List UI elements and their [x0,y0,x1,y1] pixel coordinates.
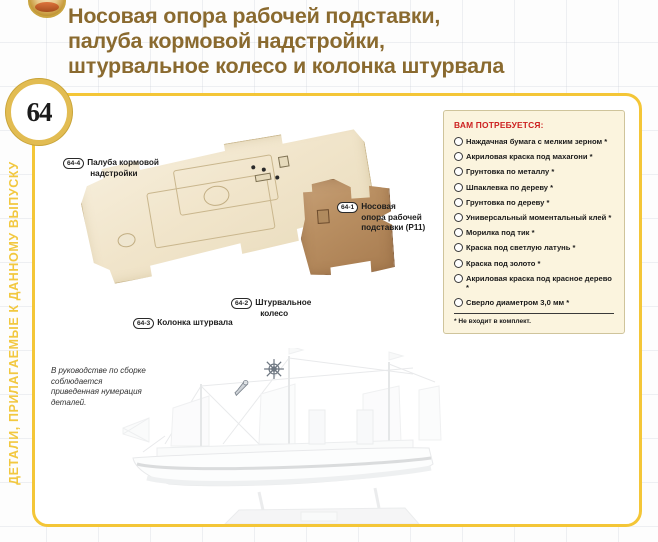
part-label-64-3: 64-3Колонка штурвала [133,318,233,330]
page-root: Носовая опора рабочей подставки, палуба … [0,0,658,542]
page-title-line-1: Носовая опора рабочей подставки, [68,4,648,29]
sidebar-vertical-tab: ДЕТАЛИ, ПРИЛАГАЕМЫЕ К ДАННОМУ ВЫПУСКУ [4,120,24,532]
material-item[interactable]: Универсальный моментальный клей * [454,213,614,222]
part-label-64-1: 64-1Носоваяопора рабочейподставки (Р11) [337,202,425,234]
part-name-64-2-line1: Штурвальное [255,298,311,307]
materials-heading: ВАМ ПОТРЕБУЕТСЯ: [454,120,614,130]
part-name-64-4-line1: Палуба кормовой [87,158,159,167]
ship-model-watermark [113,348,443,526]
sidebar-label: ДЕТАЛИ, ПРИЛАГАЕМЫЕ К ДАННОМУ ВЫПУСКУ [7,117,21,529]
part-label-64-4: 64-4Палуба кормовойнадстройки [63,158,159,179]
material-item[interactable]: Акриловая краска под махагони * [454,152,614,161]
content-panel: 64-4Палуба кормовойнадстройки 64-1Носова… [32,93,642,527]
materials-panel: ВАМ ПОТРЕБУЕТСЯ: Наждачная бумага с мелк… [443,110,625,334]
material-item[interactable]: Краска под светлую латунь * [454,243,614,252]
part-name-64-1-line2: опора рабочей [361,213,422,222]
issue-number-badge: 64 [6,79,72,145]
part-number-64-1: 64-1 [337,202,358,213]
issue-number: 64 [27,97,52,128]
brand-emblem-icon [28,0,66,18]
part-name-64-1-line3: подставки (Р11) [361,223,425,232]
page-title-line-2: палуба кормовой надстройки, [68,29,648,54]
material-item[interactable]: Акриловая краска под красное дерево * [454,274,614,292]
page-title: Носовая опора рабочей подставки, палуба … [68,4,648,79]
part-name-64-4-line2: надстройки [90,169,137,180]
material-item[interactable]: Грунтовка по металлу * [454,167,614,176]
material-item[interactable]: Наждачная бумага с мелким зерном * [454,137,614,146]
material-item[interactable]: Грунтовка по дереву * [454,198,614,207]
material-item[interactable]: Шпаклевка по дереву * [454,183,614,192]
part-number-64-2: 64-2 [231,298,252,309]
part-label-64-2: 64-2Штурвальноеколесо [231,298,311,319]
material-item[interactable]: Краска под золото * [454,259,614,268]
part-name-64-3: Колонка штурвала [157,318,232,329]
materials-divider [454,313,614,314]
materials-footnote: * Не входит в комплект. [454,318,614,325]
part-name-64-2-line2: колесо [260,309,288,320]
material-item[interactable]: Сверло диаметром 3,0 мм * [454,298,614,307]
material-item[interactable]: Морилка под тик * [454,228,614,237]
part-number-64-3: 64-3 [133,318,154,329]
part-name-64-1-line1: Носовая [361,202,396,211]
materials-list: Наждачная бумага с мелким зерном * Акрил… [454,137,614,307]
page-title-line-3: штурвальное колесо и колонка штурвала [68,54,648,79]
part-number-64-4: 64-4 [63,158,84,169]
